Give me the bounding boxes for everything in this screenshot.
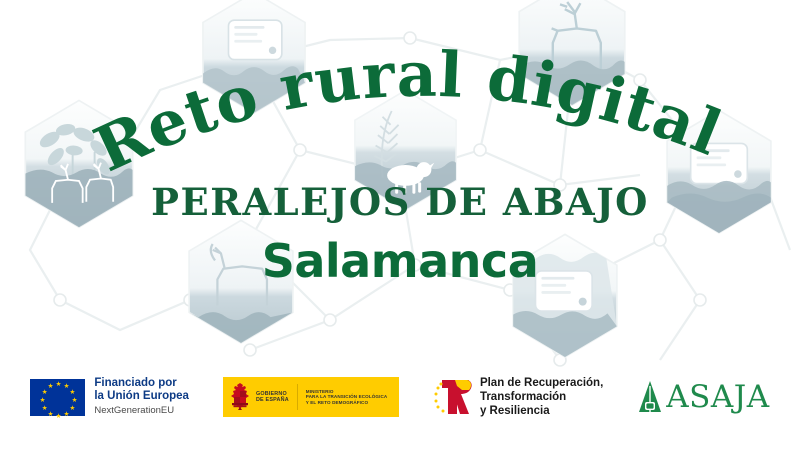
eu-text-line1: Financiado por [94, 377, 189, 390]
eu-text-nextgeneration: NextGenerationEU [94, 404, 189, 417]
eu-text-line2: la Unión Europea [94, 390, 189, 403]
hex-badge-goat-bottom-left [189, 220, 293, 343]
gobierno-de-espana-logo: GOBIERNO DE ESPAÑA MINISTERIO PARA LA TR… [223, 377, 399, 417]
eu-flag-icon [30, 379, 85, 416]
european-union-funding-logo: Financiado por la Unión Europea NextGene… [30, 377, 189, 417]
gobierno-label: GOBIERNO DE ESPAÑA [256, 391, 289, 404]
hex-badge-deer-top-right [519, 0, 625, 105]
hex-badge-tablet-top [203, 0, 305, 113]
gobierno-divider [297, 384, 298, 410]
funding-logo-bar: Financiado por la Unión Europea NextGene… [0, 366, 800, 428]
prtr-label: Plan de Recuperación, Transformación y R… [480, 376, 603, 418]
spain-coat-of-arms-icon [229, 382, 251, 412]
asaja-wordmark: ASAJA [666, 381, 769, 413]
prtr-tr-monogram-icon [433, 376, 473, 418]
poster-canvas: Reto rural digital PERALEJOS DE ABAJO Sa… [0, 0, 800, 450]
hex-badge-tablet-bottom-right [513, 234, 617, 357]
hex-badge-tablet-right [667, 110, 771, 233]
asaja-emblem-icon [637, 380, 663, 414]
eu-logo-text: Financiado por la Unión Europea NextGene… [94, 377, 189, 417]
ministerio-label: MINISTERIO PARA LA TRANSICIÓN ECOLÓGICA … [306, 389, 388, 406]
asaja-logo: ASAJA [637, 380, 769, 414]
hex-badge-sheep-center [355, 90, 456, 210]
plan-de-recuperacion-logo: Plan de Recuperación, Transformación y R… [433, 376, 603, 418]
hex-badge-deer-plants-left [25, 100, 132, 227]
